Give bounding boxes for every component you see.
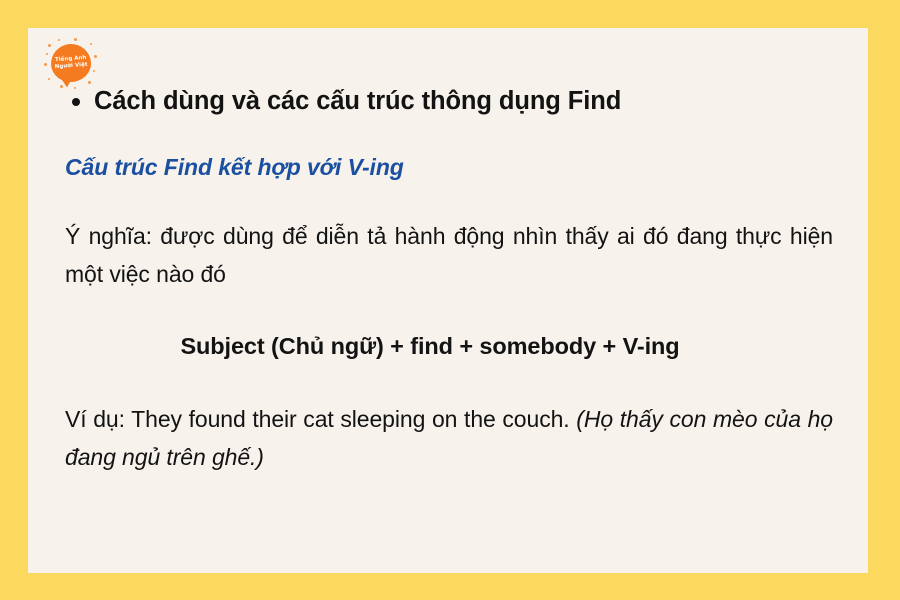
- content-panel: Tiếng Anh Người Việt Cách dùng và các cấ…: [28, 28, 868, 573]
- logo-text-line2: Người Việt: [55, 62, 88, 71]
- meaning-paragraph: Ý nghĩa: được dùng để diễn tả hành động …: [65, 217, 833, 293]
- example-paragraph: Ví dụ: They found their cat sleeping on …: [65, 400, 833, 476]
- slide-canvas: Tiếng Anh Người Việt Cách dùng và các cấ…: [0, 0, 900, 600]
- section-subtitle: Cấu trúc Find kết hợp với V-ing: [65, 154, 852, 181]
- heading-bullet-list: Cách dùng và các cấu trúc thông dụng Fin…: [46, 84, 852, 118]
- slide-content: Cách dùng và các cấu trúc thông dụng Fin…: [46, 84, 852, 476]
- example-english: Ví dụ: They found their cat sleeping on …: [65, 406, 576, 432]
- structure-formula: Subject (Chủ ngữ) + find + somebody + V-…: [46, 333, 852, 360]
- heading-bullet-item: Cách dùng và các cấu trúc thông dụng Fin…: [94, 84, 852, 118]
